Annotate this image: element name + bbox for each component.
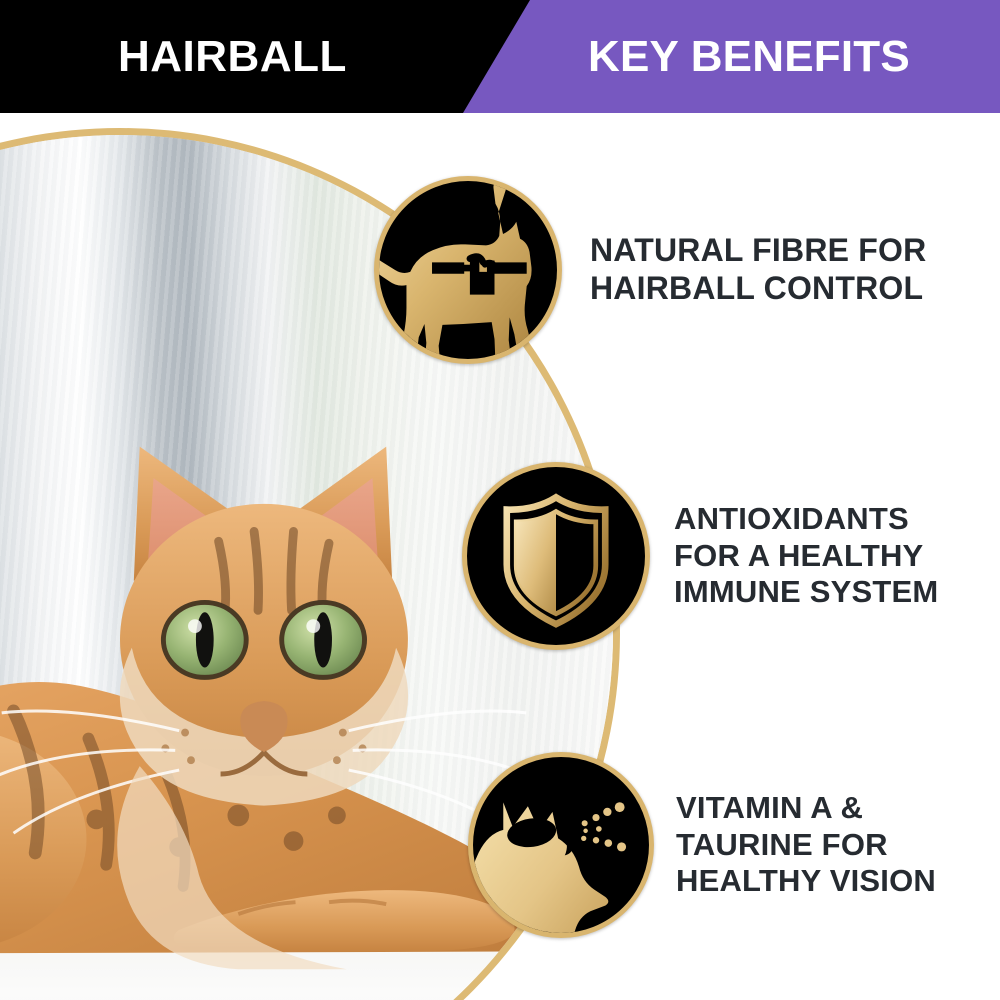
- shield-icon: [462, 462, 650, 650]
- benefit-item-antioxidants: ANTIOXIDANTS FOR A HEALTHY IMMUNE SYSTEM: [462, 462, 938, 650]
- benefit-item-vision: VITAMIN A & TAURINE FOR HEALTHY VISION: [468, 752, 936, 938]
- benefits-infographic: HAIRBALL KEY BENEFITS: [0, 0, 1000, 1000]
- cat-head-vision-icon: [468, 752, 654, 938]
- benefit-label-hairball: NATURAL FIBRE FOR HAIRBALL CONTROL: [590, 232, 926, 308]
- benefit-label-antioxidants: ANTIOXIDANTS FOR A HEALTHY IMMUNE SYSTEM: [674, 501, 938, 611]
- benefit-label-vision: VITAMIN A & TAURINE FOR HEALTHY VISION: [676, 790, 936, 900]
- header-bar: HAIRBALL KEY BENEFITS: [0, 0, 1000, 113]
- benefit-item-hairball: NATURAL FIBRE FOR HAIRBALL CONTROL: [374, 176, 926, 364]
- cat-digestion-icon: [374, 176, 562, 364]
- header-title-key-benefits: KEY BENEFITS: [588, 0, 910, 113]
- header-title-hairball: HAIRBALL: [118, 0, 347, 113]
